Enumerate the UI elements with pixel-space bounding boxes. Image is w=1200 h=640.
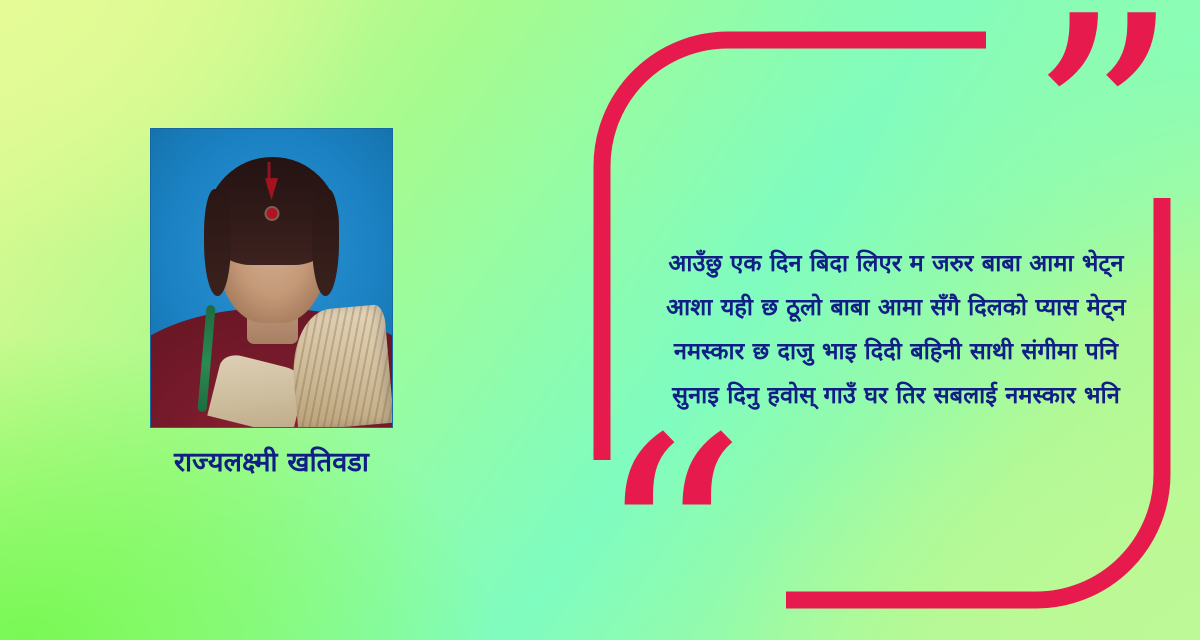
portrait-photo [150, 128, 393, 428]
portrait-block: राज्यलक्ष्मी खतिवडा [150, 128, 393, 479]
opening-quote-icon: “ [594, 400, 741, 640]
portrait-caption: राज्यलक्ष्मी खतिवडा [150, 442, 393, 479]
quote-panel: ” आउँछु एक दिन बिदा लिएर म जरुर बाबा आमा… [588, 26, 1176, 614]
quote-line-2: आशा यही छ ठूलो बाबा आमा सँगै दिलको प्यास… [626, 285, 1166, 329]
quote-line-3: नमस्कार छ दाजु भाइ दिदी बहिनी साथी संगीम… [626, 329, 1166, 373]
closing-quote-icon: ” [1027, 0, 1174, 278]
hair-side-right [312, 189, 339, 296]
poster-canvas: राज्यलक्ष्मी खतिवडा ” आउँछु एक दिन बिदा … [0, 0, 1200, 640]
hair-side-left [204, 189, 231, 296]
tika-mark [266, 208, 277, 219]
quote-line-1: आउँछु एक दिन बिदा लिएर म जरुर बाबा आमा भ… [626, 241, 1166, 285]
